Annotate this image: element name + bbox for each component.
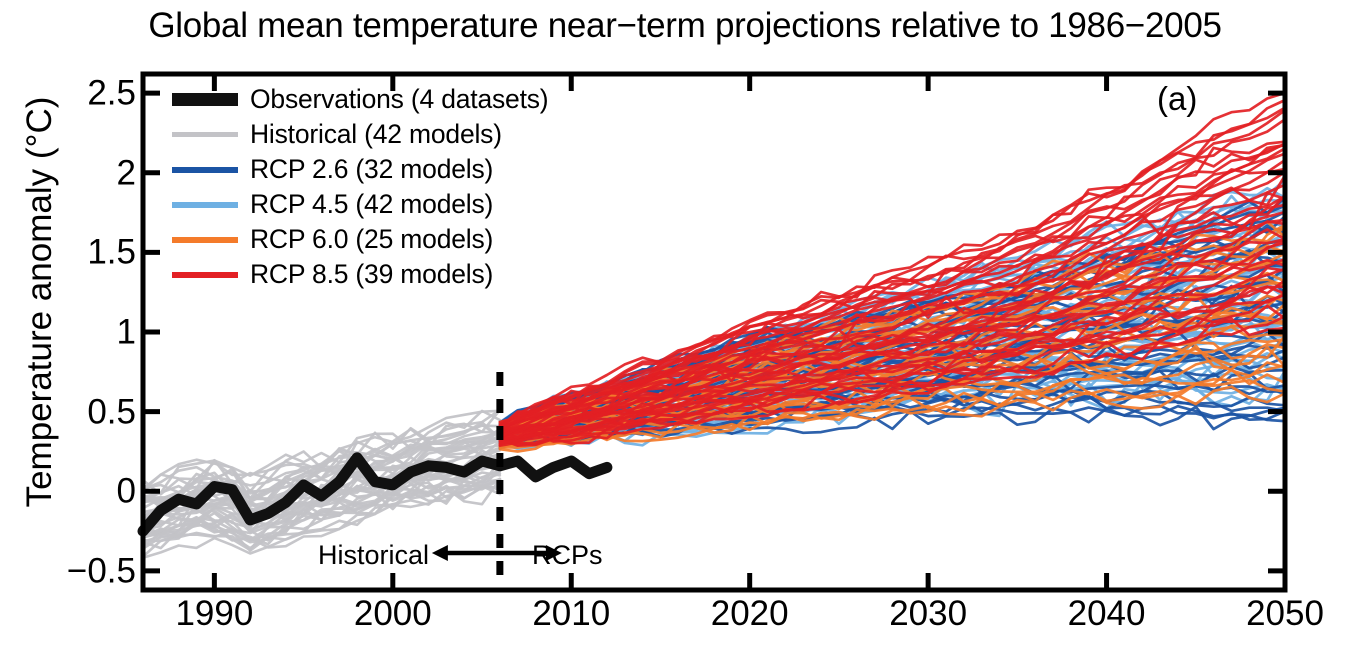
x-axis-tick-label: 2020 [670,596,830,631]
legend-item-historical[interactable]: Historical (42 models) [172,117,602,152]
legend-swatch-observations [172,93,238,106]
legend-swatch-historical [172,132,238,137]
legend-item-rcp26[interactable]: RCP 2.6 (32 models) [172,152,602,187]
legend-label-rcp85: RCP 8.5 (39 models) [250,261,493,288]
figure: Global mean temperature near−term projec… [0,0,1370,663]
arrow-head-left [432,545,448,561]
legend-label-rcp60: RCP 6.0 (25 models) [250,226,493,253]
x-axis-tick-label: 2000 [313,596,473,631]
legend-label-rcp45: RCP 4.5 (42 models) [250,191,493,218]
annotation-historical: Historical [318,540,429,571]
legend-item-rcp60[interactable]: RCP 6.0 (25 models) [172,222,602,257]
legend-swatch-rcp85 [172,272,238,278]
legend-swatch-rcp26 [172,167,238,173]
x-axis-tick-label: 2050 [1205,596,1365,631]
panel-label: (a) [1157,80,1197,118]
x-axis-tick-label: 1990 [134,596,294,631]
legend-item-rcp45[interactable]: RCP 4.5 (42 models) [172,187,602,222]
legend-label-rcp26: RCP 2.6 (32 models) [250,156,493,183]
x-axis-tick-label: 2010 [491,596,651,631]
legend-item-observations[interactable]: Observations (4 datasets) [172,82,602,117]
annotation-rcps: RCPs [532,540,603,571]
x-axis-tick-label: 2040 [1027,596,1187,631]
legend-swatch-rcp45 [172,202,238,208]
chart-legend: Observations (4 datasets)Historical (42 … [172,82,602,292]
legend-swatch-rcp60 [172,237,238,243]
legend-item-rcp85[interactable]: RCP 8.5 (39 models) [172,257,602,292]
legend-label-historical: Historical (42 models) [250,121,502,148]
legend-label-observations: Observations (4 datasets) [250,86,548,113]
x-axis-tick-label: 2030 [848,596,1008,631]
